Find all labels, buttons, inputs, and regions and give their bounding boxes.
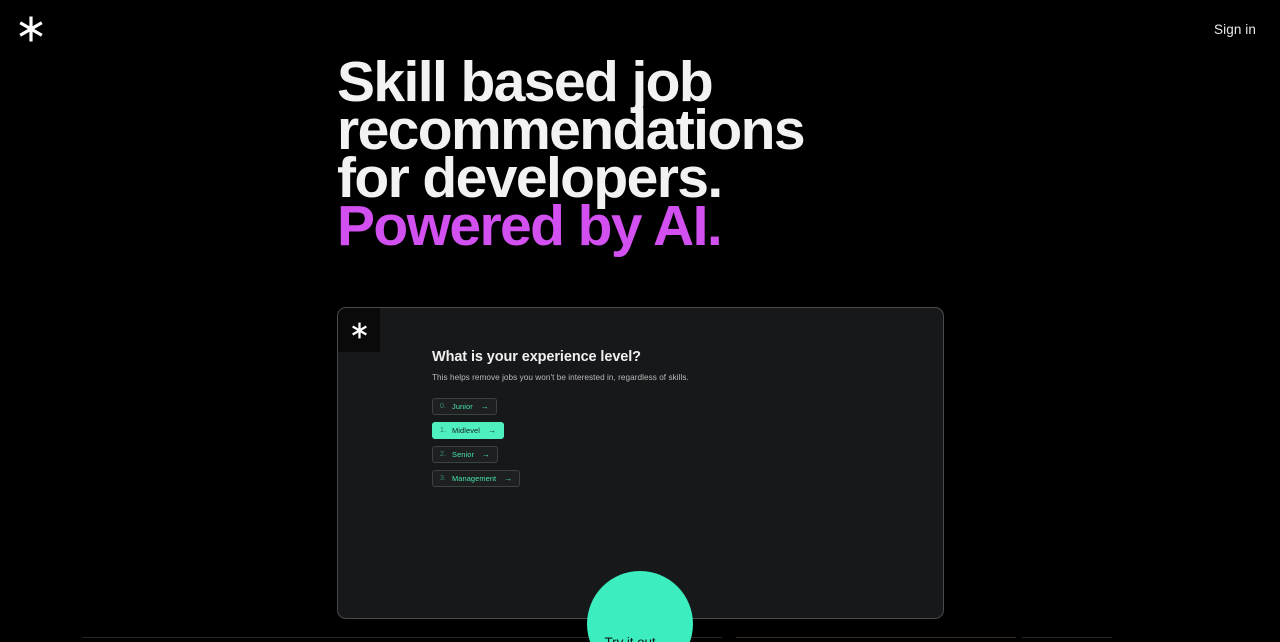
option-label: Senior [452, 450, 474, 459]
experience-option-junior[interactable]: 0.Junior→ [432, 398, 497, 415]
option-label: Junior [452, 402, 473, 411]
peek-divider-center [736, 637, 1016, 638]
question-title: What is your experience level? [432, 349, 902, 365]
arrow-right-icon: → [481, 402, 489, 411]
try-it-out-label: Try it out [605, 635, 656, 642]
experience-options-list: 0.Junior→1.Midlevel→2.Senior→3.Managemen… [432, 398, 902, 487]
option-number: 2. [440, 451, 446, 458]
try-it-out-label-group: Try it out → [605, 635, 676, 642]
experience-option-management[interactable]: 3.Management→ [432, 470, 520, 487]
option-number: 1. [440, 427, 446, 434]
arrow-right-icon: → [663, 635, 676, 642]
question-subtitle: This helps remove jobs you won't be inte… [432, 373, 902, 382]
card-asterisk-logo-icon [338, 308, 380, 352]
peek-divider-right [1022, 637, 1112, 638]
option-number: 3. [440, 475, 446, 482]
option-label: Midlevel [452, 426, 480, 435]
headline-line-4-accent: Powered by AI. [337, 202, 1097, 250]
arrow-right-icon: → [488, 426, 496, 435]
sign-in-link[interactable]: Sign in [1212, 18, 1258, 41]
experience-option-senior[interactable]: 2.Senior→ [432, 446, 498, 463]
asterisk-logo-icon[interactable] [14, 12, 48, 46]
page-title: Skill based job recommendations for deve… [337, 58, 1097, 250]
card-body: What is your experience level? This help… [432, 349, 902, 487]
experience-option-midlevel[interactable]: 1.Midlevel→ [432, 422, 504, 439]
option-number: 0. [440, 403, 446, 410]
option-label: Management [452, 474, 496, 483]
arrow-right-icon: → [482, 450, 490, 459]
hero-section: Skill based job recommendations for deve… [337, 58, 1097, 250]
arrow-right-icon: → [504, 474, 512, 483]
